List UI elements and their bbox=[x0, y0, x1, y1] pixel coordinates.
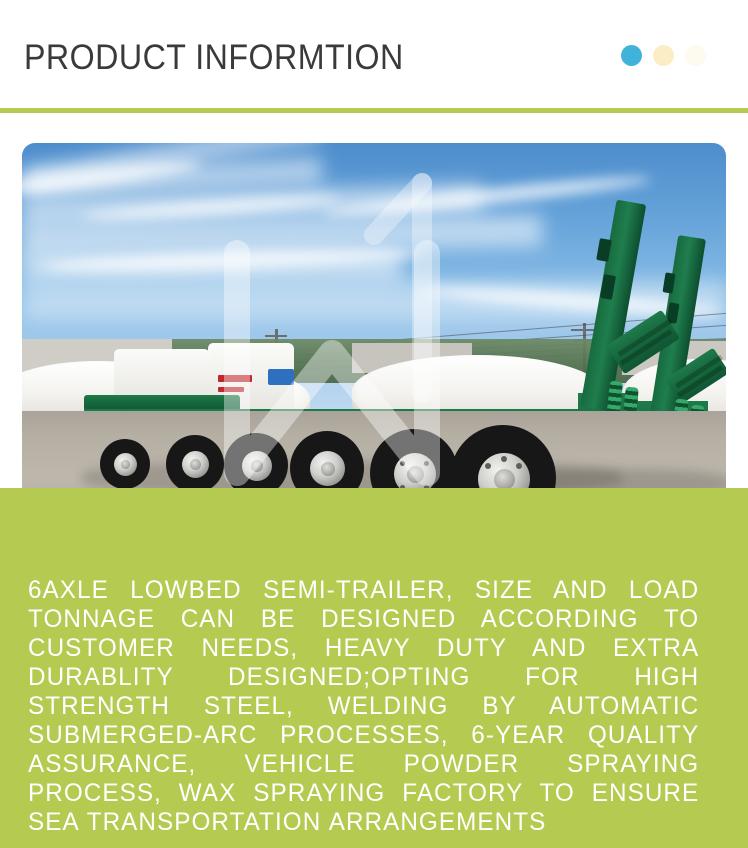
product-information-page: PRODUCT INFORMTION bbox=[0, 0, 748, 848]
header-divider bbox=[0, 108, 748, 113]
page-header: PRODUCT INFORMTION bbox=[0, 0, 748, 110]
product-description-text: 6AXLE LOWBED SEMI-TRAILER, SIZE AND LOAD… bbox=[28, 576, 699, 837]
dot-indicator-cream bbox=[653, 45, 674, 66]
dot-indicator-faint bbox=[685, 45, 706, 66]
description-panel: 6AXLE LOWBED SEMI-TRAILER, SIZE AND LOAD… bbox=[0, 488, 748, 848]
dot-indicator-group bbox=[621, 45, 724, 66]
page-title: PRODUCT INFORMTION bbox=[24, 36, 404, 75]
dot-indicator-cyan bbox=[621, 45, 642, 66]
